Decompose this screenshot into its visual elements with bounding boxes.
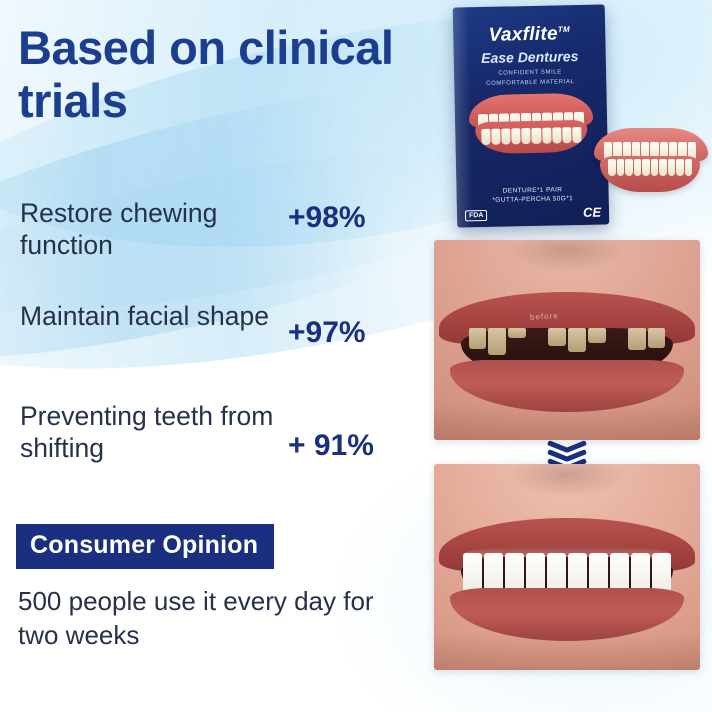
product-subtitle: Ease Dentures [454, 47, 606, 66]
benefit-row: Preventing teeth from shifting + 91% [20, 400, 420, 465]
before-chin-shadow [434, 404, 700, 440]
product-box: VaxfliteTM Ease Dentures CONFIDENT SMILE… [453, 4, 610, 227]
before-watermark: before [530, 311, 559, 321]
lower-teeth-row [481, 127, 581, 145]
denture-lower-teeth [608, 159, 692, 176]
benefit-row: Maintain facial shape +97% [20, 300, 420, 350]
product-bullet-2: COMFORTABLE MATERIAL [454, 78, 606, 87]
product-bullet-1: CONFIDENT SMILE [454, 68, 606, 77]
after-chin-shadow [434, 633, 700, 670]
consumer-opinion-text: 500 people use it every day for two week… [18, 585, 418, 653]
denture-product-photo [592, 126, 712, 198]
benefit-row: Restore chewing function +98% [20, 197, 420, 262]
benefit-value: +97% [288, 300, 366, 350]
before-teeth [469, 328, 666, 362]
benefit-label: Maintain facial shape [20, 300, 288, 332]
product-brand-text: Vaxflite [488, 23, 558, 45]
nose-shadow [508, 464, 625, 497]
after-photo [434, 464, 700, 670]
page-title: Based on clinical trials [18, 22, 448, 127]
benefit-value: +98% [288, 197, 366, 235]
product-box-image: VaxfliteTM Ease Dentures CONFIDENT SMILE… [453, 4, 610, 227]
box-denture-graphic [469, 93, 594, 158]
nose-shadow [508, 240, 625, 272]
product-brand: VaxfliteTM [453, 22, 605, 47]
benefit-label: Preventing teeth from shifting [20, 400, 288, 465]
benefit-value: + 91% [288, 400, 374, 463]
fda-badge: FDA [465, 210, 488, 221]
ce-badge: CE [583, 205, 601, 220]
promo-canvas: Based on clinical trials Restore chewing… [0, 0, 712, 712]
benefit-label: Restore chewing function [20, 197, 288, 262]
consumer-opinion-badge: Consumer Opinion [16, 524, 274, 569]
product-footer-2: *GUTTA-PERCHA 50G*1 [457, 194, 609, 204]
trademark-symbol: TM [558, 25, 570, 34]
before-photo: before [434, 240, 700, 440]
